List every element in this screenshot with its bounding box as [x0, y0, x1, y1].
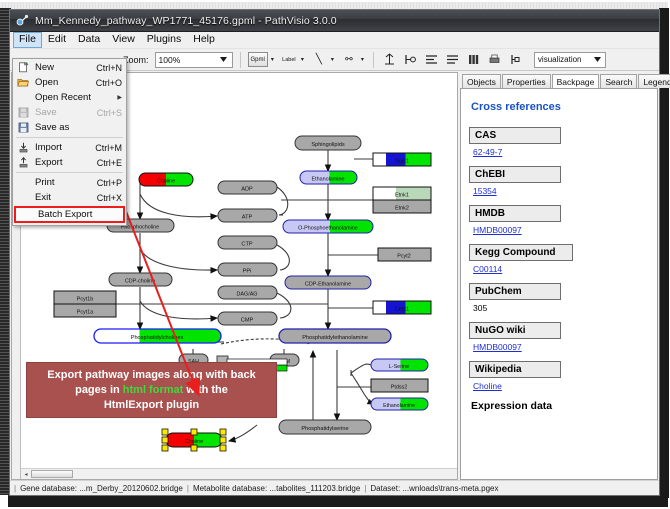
node-phosphatidylserine: Phosphatidylserine: [279, 420, 371, 434]
menu-item-label: Exit: [31, 192, 97, 203]
xref-database-label: Wikipedia: [469, 361, 561, 378]
xref-database-label: NuGO wiki: [469, 322, 561, 339]
node-ethanolamine-top: Ethanolamine: [300, 171, 357, 184]
label-icon: Label: [280, 52, 298, 67]
callout-line-2a: pages in: [75, 384, 123, 396]
blank-icon: [15, 91, 31, 104]
xref-value[interactable]: HMDB00097: [473, 342, 649, 352]
xref-chebi: ChEBI 15354: [469, 166, 649, 196]
node-cept1: Cept1: [373, 301, 431, 314]
pathvisio-icon: [16, 14, 29, 27]
group-button[interactable]: [507, 51, 524, 68]
print-button[interactable]: [486, 51, 503, 68]
menu-item-accel: Ctrl+O: [96, 78, 126, 88]
node-ptdss2: Ptdss2: [371, 379, 428, 392]
menu-item-label: Open Recent: [31, 92, 126, 103]
menu-help[interactable]: Help: [187, 32, 221, 48]
menu-item-label: Open: [31, 77, 96, 88]
svg-text:CDP-choline: CDP-choline: [125, 279, 155, 285]
svg-text:Etnk2: Etnk2: [395, 206, 409, 212]
xref-value[interactable]: HMDB00097: [473, 225, 649, 235]
node-choline: Choline: [139, 173, 193, 186]
xref-value[interactable]: C00114: [473, 264, 649, 274]
menu-edit[interactable]: Edit: [42, 32, 72, 48]
node-atp: ATP: [218, 209, 277, 222]
visualization-combobox[interactable]: visualization: [534, 52, 606, 68]
callout-line-1: Export pathway images along with back: [47, 368, 255, 383]
tab-objects[interactable]: Objects: [462, 74, 501, 88]
menu-separator: [16, 172, 123, 173]
menu-item-accel: Ctrl+X: [97, 193, 126, 203]
svg-text:Choline: Choline: [185, 439, 203, 445]
chevron-down-icon: [592, 53, 603, 67]
svg-text:Pcyt1a: Pcyt1a: [77, 310, 93, 316]
svg-text:Ethanolamine: Ethanolamine: [312, 177, 345, 183]
node-etnk2: Etnk2: [373, 200, 431, 213]
menu-item-label: Batch Export: [34, 209, 123, 220]
menu-item-new[interactable]: New Ctrl+N: [13, 60, 126, 75]
menu-item-label: Print: [31, 177, 97, 188]
menu-item-print[interactable]: Print Ctrl+P: [13, 175, 126, 190]
chevron-down-icon[interactable]: ▾: [329, 56, 336, 63]
xref-link[interactable]: 62-49-7: [473, 147, 502, 157]
export-icon: [15, 156, 31, 169]
xref-database-label: ChEBI: [469, 166, 561, 183]
blank-icon: [15, 191, 31, 204]
xref-cas: CAS 62-49-7: [469, 127, 649, 157]
tab-backpage[interactable]: Backpage: [552, 74, 600, 89]
align-rows-button[interactable]: [423, 51, 440, 68]
svg-text:O-Phosphoethanolamine: O-Phosphoethanolamine: [298, 226, 358, 232]
svg-text:DAG/AG: DAG/AG: [237, 292, 258, 298]
xref-link[interactable]: HMDB00097: [473, 342, 522, 352]
xref-value[interactable]: 62-49-7: [473, 147, 649, 157]
svg-text:CMP: CMP: [241, 318, 254, 324]
xref-link[interactable]: 15354: [473, 186, 497, 196]
node-dag-ag: DAG/AG: [218, 286, 277, 299]
node-ethanolamine-bottom: Ethanolamine: [371, 398, 428, 410]
xref-value[interactable]: 15354: [473, 186, 649, 196]
xref-link[interactable]: Choline: [473, 381, 502, 391]
menu-item-accel: Ctrl+S: [97, 108, 126, 118]
tab-search[interactable]: Search: [600, 74, 637, 88]
stack-button[interactable]: [444, 51, 461, 68]
zoom-value: 100%: [159, 55, 181, 65]
node-pcyt2: Pcyt2: [378, 248, 431, 261]
menu-data[interactable]: Data: [72, 32, 106, 48]
align-left-button[interactable]: [402, 51, 419, 68]
xref-wikipedia: Wikipedia Choline: [469, 361, 649, 391]
expression-data-title: Expression data: [471, 400, 649, 412]
menu-separator: [16, 137, 123, 138]
menu-item-import[interactable]: Import Ctrl+M: [13, 140, 126, 155]
svg-text:ADP: ADP: [241, 187, 253, 193]
menu-file[interactable]: File: [13, 32, 42, 48]
chevron-down-icon[interactable]: ▾: [299, 56, 306, 63]
backpage-panel: Cross references CAS 62-49-7 ChEBI 15354…: [460, 88, 658, 480]
blank-icon: [18, 208, 34, 221]
node-o-phosphoethanolamine: O-Phosphoethanolamine: [283, 220, 373, 233]
node-pcyt1b: Pcyt1b: [54, 291, 116, 304]
svg-text:Pcyt2: Pcyt2: [397, 254, 410, 260]
window-title: Mm_Kennedy_pathway_WP1771_45176.gpml - P…: [35, 15, 337, 27]
status-metabolite-database: Metabolite database: ...tabolites_111203…: [189, 484, 364, 493]
xref-nugo-wiki: NuGO wiki HMDB00097: [469, 322, 649, 352]
svg-text:Cept1: Cept1: [395, 307, 409, 313]
node-cmp: CMP: [218, 312, 277, 325]
callout-highlight: html format: [123, 384, 184, 396]
svg-text:CDP-Ethanolamine: CDP-Ethanolamine: [305, 282, 351, 288]
zoom-combobox[interactable]: 100%: [155, 52, 233, 68]
node-adp: ADP: [218, 181, 277, 194]
columns-button[interactable]: [465, 51, 482, 68]
line-icon: ╲: [310, 52, 328, 67]
menu-item-save: Save Ctrl+S: [13, 105, 126, 120]
side-bar: Objects Properties Backpage Search Legen…: [460, 72, 658, 480]
cross-references-title: Cross references: [471, 101, 649, 113]
menu-item-open[interactable]: Open Ctrl+O: [13, 75, 126, 90]
node-cdp-choline: CDP-choline: [109, 273, 172, 286]
svg-text:Choline: Choline: [157, 179, 175, 185]
menu-bar: File Edit Data View Plugins Help: [10, 32, 659, 49]
menu-item-label: Save as: [31, 122, 122, 133]
import-icon: [15, 141, 31, 154]
line-tool[interactable]: ╲ ▾: [310, 52, 336, 67]
scroll-left-icon[interactable]: ◂: [21, 470, 31, 479]
align-center-button[interactable]: [381, 51, 398, 68]
xref-value: 305: [473, 303, 649, 313]
node-l-serine: L-Serine: [371, 359, 428, 371]
menu-view[interactable]: View: [106, 32, 141, 48]
tab-legend[interactable]: Legend: [638, 74, 670, 88]
receptor-icon: ⚯: [340, 52, 358, 67]
window-shadow-top: [0, 2, 668, 9]
receptor-tool[interactable]: ⚯ ▾: [340, 52, 366, 67]
datanode-tool[interactable]: Gpml ▾: [248, 52, 276, 67]
svg-text:Phosphatidylserine: Phosphatidylserine: [301, 426, 348, 432]
menu-item-accel: Ctrl+N: [96, 63, 126, 73]
xref-database-label: Kegg Compound: [469, 244, 573, 261]
menu-item-exit[interactable]: Exit Ctrl+X: [13, 190, 126, 205]
canvas-hscrollbar[interactable]: ◂: [21, 468, 457, 479]
chevron-down-icon: [218, 53, 230, 67]
xref-database-label: PubChem: [469, 283, 561, 300]
menu-item-label: Export: [31, 157, 97, 168]
xref-pubchem: PubChem 305: [469, 283, 649, 313]
xref-link[interactable]: HMDB00097: [473, 225, 522, 235]
svg-text:L-Serine: L-Serine: [389, 364, 409, 370]
menu-item-batch-export[interactable]: Batch Export: [14, 206, 125, 223]
svg-text:Ethanolamine: Ethanolamine: [383, 403, 415, 409]
svg-text:Phosphatidylethanolamine: Phosphatidylethanolamine: [302, 335, 368, 341]
screenshot-root: Mm_Kennedy_pathway_WP1771_45176.gpml - P…: [0, 0, 670, 509]
svg-text:Sgpl1: Sgpl1: [395, 159, 409, 165]
callout-line-3: HtmlExport plugin: [104, 398, 199, 413]
callout-line-2: pages in html format with the: [75, 383, 228, 398]
label-tool[interactable]: Label ▾: [280, 52, 306, 67]
chevron-down-icon[interactable]: ▾: [269, 56, 276, 63]
menu-item-accel: Ctrl+M: [95, 143, 126, 153]
datanode-icon: Gpml: [248, 52, 268, 67]
xref-kegg-compound: Kegg Compound C00114: [469, 244, 649, 274]
xref-link[interactable]: C00114: [473, 264, 502, 274]
svg-text:Ptdss2: Ptdss2: [391, 384, 407, 390]
node-sphingolipids: Sphingolipids: [295, 136, 361, 150]
title-bar: Mm_Kennedy_pathway_WP1771_45176.gpml - P…: [10, 10, 659, 32]
status-dataset: Dataset: ...wnloads\trans-meta.pgex: [366, 484, 502, 493]
svg-text:Sphingolipids: Sphingolipids: [311, 142, 344, 148]
xref-database-label: HMDB: [469, 205, 561, 222]
menu-item-export[interactable]: Export Ctrl+E: [13, 155, 126, 170]
menu-item-label: New: [31, 62, 96, 73]
menu-item-accel: Ctrl+E: [97, 158, 126, 168]
menu-item-label: Import: [31, 142, 95, 153]
node-ctp: CTP: [218, 236, 277, 249]
svg-text:Phosphatidylcholines: Phosphatidylcholines: [131, 335, 184, 341]
node-choline-selected: Choline: [162, 429, 226, 451]
chevron-down-icon[interactable]: ▾: [359, 56, 366, 63]
node-cdp-ethanolamine: CDP-Ethanolamine: [285, 276, 371, 289]
toolbar-separator: [240, 52, 241, 68]
toolbar-separator-2: [373, 52, 374, 68]
svg-text:CTP: CTP: [241, 242, 252, 248]
status-gene-database: Gene database: ...m_Derby_20120602.bridg…: [16, 484, 187, 493]
svg-text:PPi: PPi: [243, 269, 252, 275]
xref-hmdb: HMDB HMDB00097: [469, 205, 649, 235]
hscroll-thumb[interactable]: [31, 470, 73, 478]
xref-database-label: CAS: [469, 127, 561, 144]
menu-plugins[interactable]: Plugins: [141, 32, 187, 48]
status-bar: | Gene database: ...m_Derby_20120602.bri…: [10, 480, 659, 495]
file-menu-dropdown[interactable]: New Ctrl+N Open Ctrl+O Open Recent ▶ Sav…: [12, 58, 127, 226]
svg-text:ATP: ATP: [242, 215, 253, 221]
annotation-callout: Export pathway images along with back pa…: [26, 362, 277, 418]
node-sgpl1: Sgpl1: [373, 153, 431, 166]
visualization-value: visualization: [538, 55, 582, 64]
submenu-arrow-icon: ▶: [117, 94, 122, 101]
blank-icon: [15, 176, 31, 189]
menu-item-label: Save: [31, 107, 97, 118]
node-phosphatidylethanolamine: Phosphatidylethanolamine: [279, 329, 391, 343]
node-phosphatidylcholines: Phosphatidylcholines: [94, 329, 221, 343]
callout-line-2b: with the: [183, 384, 228, 396]
save-disk-icon: [15, 106, 31, 119]
svg-text:Pcyt1b: Pcyt1b: [77, 297, 93, 303]
save-as-icon: [15, 121, 31, 134]
tab-properties[interactable]: Properties: [502, 74, 551, 88]
menu-item-accel: Ctrl+P: [97, 178, 126, 188]
node-etnk1: Etnk1: [373, 187, 431, 200]
menu-item-open-recent[interactable]: Open Recent ▶: [13, 90, 126, 105]
node-ppi: PPi: [218, 263, 277, 276]
node-pcyt1a: Pcyt1a: [54, 304, 116, 317]
xref-value[interactable]: Choline: [473, 381, 649, 391]
menu-item-save-as[interactable]: Save as: [13, 120, 126, 135]
pathvisio-window: Mm_Kennedy_pathway_WP1771_45176.gpml - P…: [9, 9, 660, 496]
svg-text:Etnk1: Etnk1: [395, 193, 409, 199]
window-shadow-bottom: [8, 495, 668, 507]
new-document-icon: [15, 61, 31, 74]
open-folder-icon: [15, 76, 31, 89]
sidebar-tabs: Objects Properties Backpage Search Legen…: [460, 72, 658, 88]
